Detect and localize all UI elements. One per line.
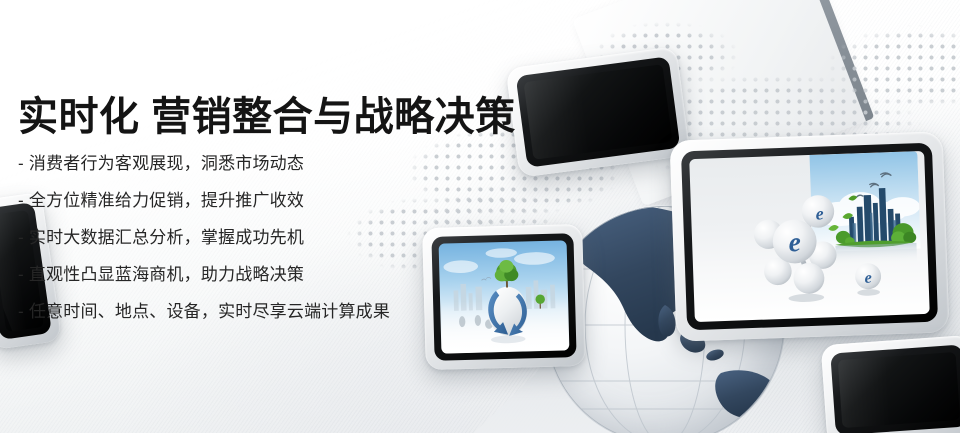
- banner-headline: 实时化 营销整合与战略决策: [18, 96, 538, 139]
- device-main-tablet: e e e: [670, 131, 950, 341]
- svg-text:e: e: [815, 203, 824, 223]
- screen-molecule-eco-city-scene: e e e: [689, 151, 930, 322]
- bullet-text: 实时大数据汇总分析，掌握成功先机: [29, 228, 304, 247]
- bullet-text: 任意时间、地点、设备，实时尽享云端计算成果: [29, 302, 390, 321]
- device-inner-frame: e e e: [681, 143, 938, 331]
- bullet-marker: -: [18, 191, 24, 210]
- screen-display-blank: [524, 64, 673, 160]
- bullet-item-4: -直观性凸显蓝海商机，助力战略决策: [18, 266, 538, 283]
- bullet-marker: -: [18, 228, 24, 247]
- bullet-text: 消费者行为客观展现，洞悉市场动态: [29, 154, 304, 173]
- device-bezel: [821, 335, 960, 433]
- bullet-marker: -: [18, 302, 24, 321]
- banner-bullet-list: -消费者行为客观展现，洞悉市场动态 -全方位精准给力促销，提升推广收效 -实时大…: [18, 155, 538, 320]
- svg-text:e: e: [788, 226, 801, 257]
- bullet-item-5: -任意时间、地点、设备，实时尽享云端计算成果: [18, 303, 538, 320]
- bullet-item-1: -消费者行为客观展现，洞悉市场动态: [18, 155, 538, 172]
- marketing-banner: e e e: [0, 0, 960, 433]
- bullet-item-3: -实时大数据汇总分析，掌握成功先机: [18, 229, 538, 246]
- svg-text:e: e: [864, 269, 872, 287]
- bullet-marker: -: [18, 154, 24, 173]
- screen-display-blank: [838, 352, 960, 428]
- device-inner-frame: [830, 344, 960, 433]
- device-inner-frame: [516, 56, 681, 167]
- bullet-text: 全方位精准给力促销，提升推广收效: [29, 191, 304, 210]
- banner-text-block: 实时化 营销整合与战略决策 -消费者行为客观展现，洞悉市场动态 -全方位精准给力…: [18, 96, 538, 320]
- bullet-text: 直观性凸显蓝海商机，助力战略决策: [29, 265, 304, 284]
- bullet-marker: -: [18, 265, 24, 284]
- device-bezel: e e e: [670, 131, 950, 341]
- device-bottom-right: [821, 335, 960, 433]
- bullet-item-2: -全方位精准给力促销，提升推广收效: [18, 192, 538, 209]
